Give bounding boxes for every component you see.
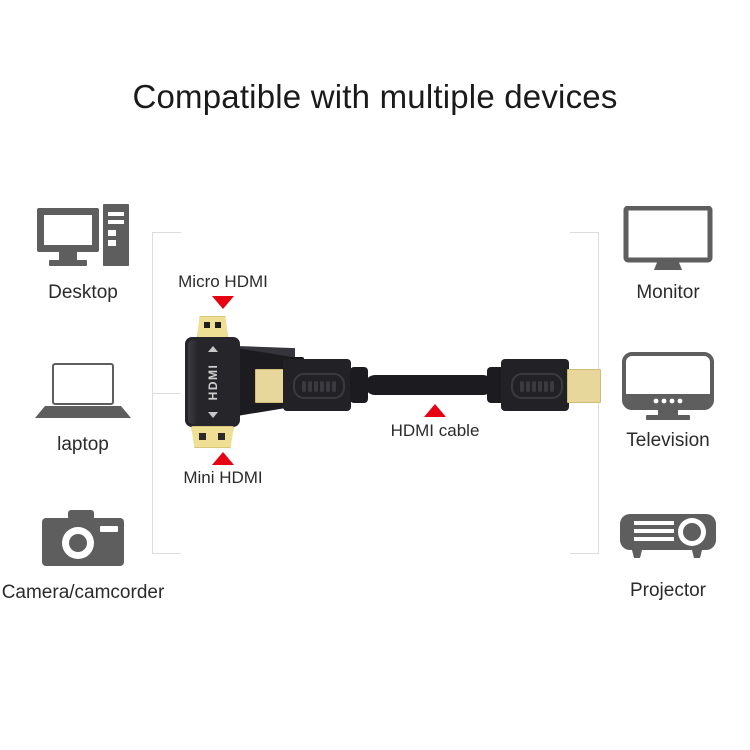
laptop-icon <box>0 352 178 430</box>
device-item-laptop: laptop <box>0 352 178 456</box>
adapter-body-text: HDMI <box>206 364 220 401</box>
adapter-marker-up-icon <box>208 346 218 352</box>
hdmi-cable <box>255 356 595 416</box>
device-item-projector: Projector <box>573 498 750 602</box>
adapter-body-highlight <box>188 340 198 424</box>
device-label: Television <box>573 430 750 452</box>
callout-label: Micro HDMI <box>118 272 328 292</box>
connector-gold-tip <box>191 426 234 448</box>
device-label: Camera/camcorder <box>0 582 178 604</box>
adapter-marker-down-icon <box>208 412 218 418</box>
device-item-monitor: Monitor <box>573 200 750 304</box>
connector-pin <box>215 322 221 328</box>
cable-cord <box>365 375 493 395</box>
camera-icon <box>0 500 178 578</box>
monitor-icon <box>573 200 750 278</box>
connector-grip-pattern <box>511 373 563 399</box>
cable-right-connector-shell <box>501 359 569 411</box>
adapter-body: HDMI <box>185 337 240 427</box>
device-item-camera: Camera/camcorder <box>0 500 178 604</box>
device-label: Projector <box>573 580 750 602</box>
connector-pin <box>199 433 206 440</box>
cable-left-connector-shell <box>283 359 351 411</box>
callout-label: Mini HDMI <box>118 468 328 488</box>
device-label: Monitor <box>573 282 750 304</box>
micro-hdmi-connector <box>197 316 228 338</box>
desktop-computer-icon <box>0 200 178 278</box>
callout-label: HDMI cable <box>345 421 525 441</box>
cable-right-gold-tip <box>567 369 601 403</box>
connector-pin <box>218 433 225 440</box>
mini-hdmi-connector <box>191 426 234 448</box>
projector-icon <box>573 498 750 576</box>
page-title: Compatible with multiple devices <box>0 78 750 116</box>
connector-grip-pattern <box>293 373 345 399</box>
connector-gold-tip <box>197 316 228 338</box>
connector-pin <box>204 322 210 328</box>
